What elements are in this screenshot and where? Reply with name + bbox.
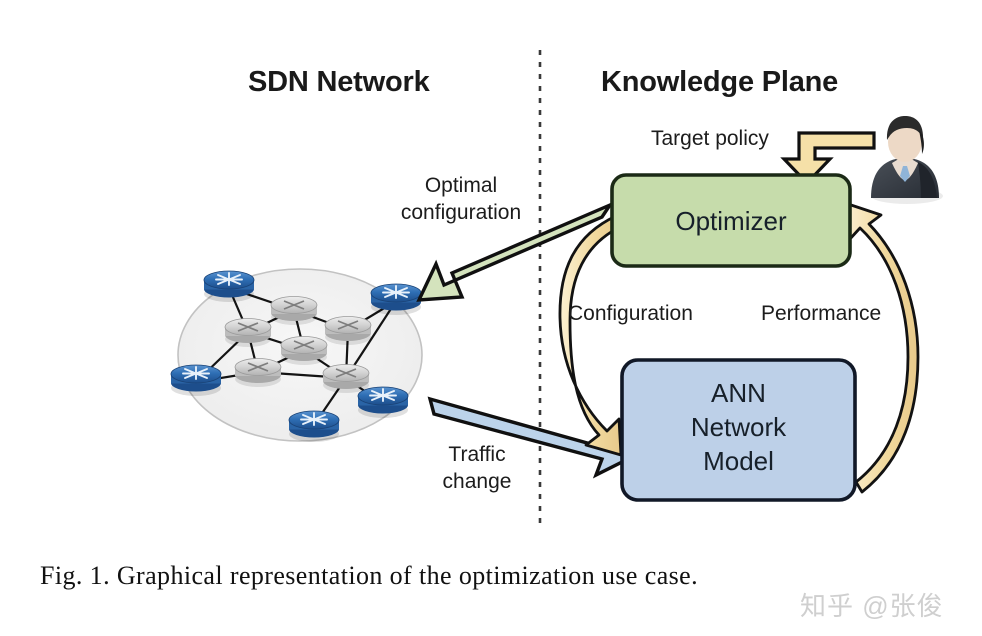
sdn-network-topology [171,269,422,442]
user-avatar [871,116,943,204]
ann-network-model-label: ANN Network Model [622,377,855,478]
label-target-policy: Target policy [651,126,769,153]
heading-sdn-network: SDN Network [248,66,430,99]
label-traffic-change: Traffic change [428,442,526,496]
label-configuration: Configuration [568,301,693,328]
label-performance: Performance [761,301,881,328]
label-optimal-configuration: Optimal configuration [386,173,536,227]
watermark: 知乎 @张俊 [800,586,944,623]
figure-canvas: SDN Network Knowledge Plane Target polic… [0,0,982,636]
optimizer-box-label: Optimizer [612,205,850,239]
heading-knowledge-plane: Knowledge Plane [601,66,838,99]
